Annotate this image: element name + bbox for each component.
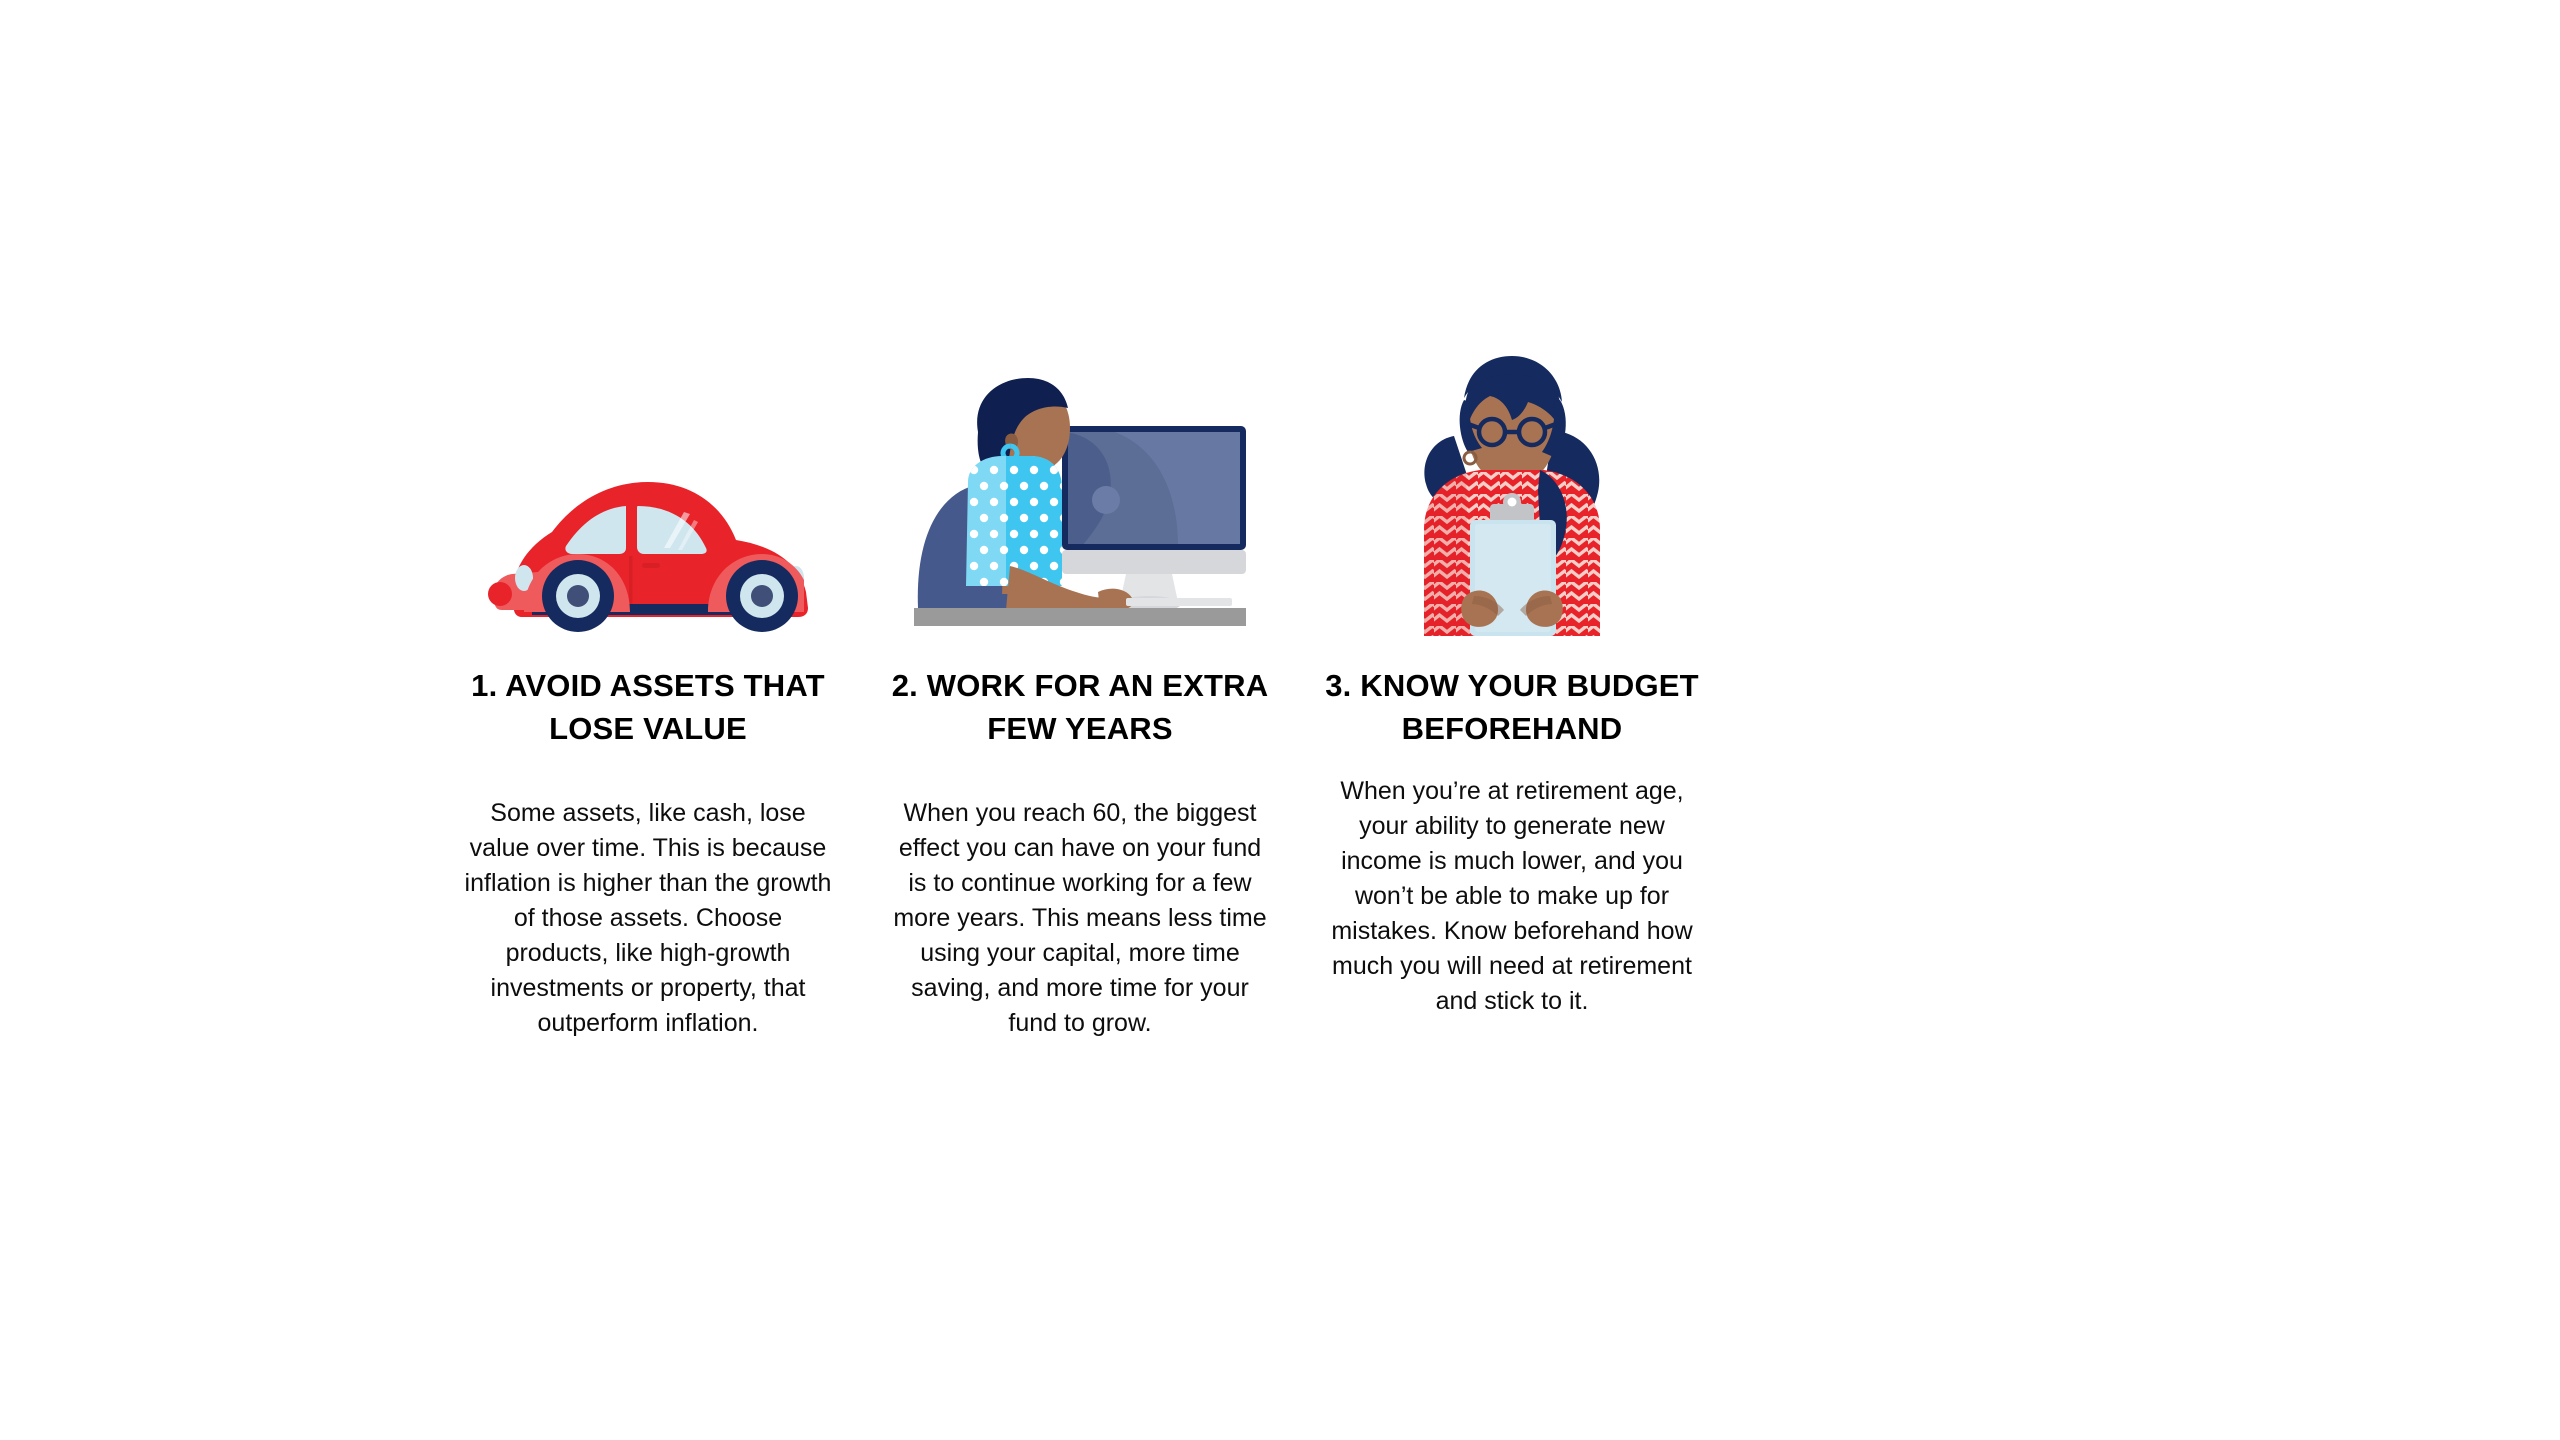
column-heading: 1. AVOID ASSETS THAT LOSE VALUE [458,664,838,750]
columns-container: 1. AVOID ASSETS THAT LOSE VALUE Some ass… [432,320,1728,1041]
column-know-budget: 3. KNOW YOUR BUDGET BEFOREHAND When you’… [1296,320,1728,1019]
woman-clipboard-icon [1412,340,1612,640]
column-body-text: When you reach 60, the biggest effect yo… [892,796,1268,1041]
column-heading: 3. KNOW YOUR BUDGET BEFOREHAND [1322,664,1702,750]
desk-worker-icon [910,370,1250,640]
column-body-text: Some assets, like cash, lose value over … [460,796,836,1041]
infographic-canvas: 1. AVOID ASSETS THAT LOSE VALUE Some ass… [0,0,2560,1440]
person-at-computer-illustration [900,320,1260,640]
column-avoid-assets: 1. AVOID ASSETS THAT LOSE VALUE Some ass… [432,320,864,1041]
red-car-illustration [468,320,828,640]
column-body-text: When you’re at retirement age, your abil… [1324,774,1700,1019]
woman-with-clipboard-illustration [1332,320,1692,640]
red-car-icon [478,460,818,640]
column-work-extra-years: 2. WORK FOR AN EXTRA FEW YEARS When you … [864,320,1296,1041]
column-heading: 2. WORK FOR AN EXTRA FEW YEARS [890,664,1270,750]
